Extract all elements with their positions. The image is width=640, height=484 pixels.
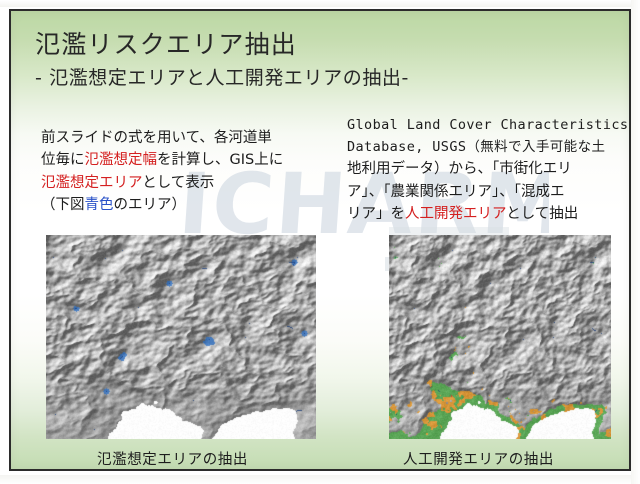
right-line-5-suffix: として抽出 bbox=[506, 206, 578, 222]
right-line-5: リア」を人工開発エリアとして抽出 bbox=[347, 203, 631, 225]
figure-landcover-map bbox=[389, 235, 611, 439]
right-line-2: Database, USGS（無料で入手可能な土 bbox=[347, 136, 631, 158]
left-line-3-suffix: として表示 bbox=[142, 175, 214, 191]
left-text-column: 前スライドの式を用いて、各河道単 位毎に氾濫想定幅を計算し、GIS上に 氾濫想定… bbox=[41, 127, 321, 217]
landcover-map-canvas bbox=[389, 235, 611, 439]
right-line-5-prefix: リア」を bbox=[347, 206, 405, 222]
page-title: 氾濫リスクエリア抽出 bbox=[35, 30, 595, 60]
left-line-4-prefix: （下図 bbox=[41, 197, 85, 213]
highlight-blue-color: 青色 bbox=[85, 197, 114, 213]
scan-right-edge bbox=[631, 0, 640, 484]
left-line-3: 氾濫想定エリアとして表示 bbox=[41, 172, 321, 194]
slide-frame: ICHARM 氾濫リスクエリア抽出 - 氾濫想定エリアと人工開発エリアの抽出- … bbox=[9, 9, 631, 471]
right-line-1: Global Land Cover Characteristics bbox=[347, 115, 631, 136]
scan-top-edge bbox=[0, 0, 640, 7]
left-line-2-suffix: を計算し、GIS上に bbox=[157, 152, 283, 168]
right-text-column: Global Land Cover Characteristics Databa… bbox=[347, 115, 631, 226]
caption-left: 氾濫想定エリアの抽出 bbox=[97, 448, 248, 469]
left-line-1-text: 前スライドの式を用いて、各河道単 bbox=[41, 130, 272, 146]
page-subtitle: - 氾濫想定エリアと人工開発エリアの抽出- bbox=[35, 66, 595, 92]
slide-root: ICHARM 氾濫リスクエリア抽出 - 氾濫想定エリアと人工開発エリアの抽出- … bbox=[0, 0, 640, 484]
left-line-4-suffix: のエリア） bbox=[114, 197, 187, 213]
right-line-2-mono: Database, USGS（無料で入手可能な土 bbox=[347, 139, 605, 155]
highlight-artificial-development-area: 人工開発エリア bbox=[405, 206, 506, 222]
right-line-4: ア」、「農業関係エリア」、「混成エ bbox=[347, 181, 631, 203]
scan-bottom-edge bbox=[0, 475, 640, 484]
left-line-4: （下図青色のエリア） bbox=[41, 194, 321, 216]
highlight-flood-width: 氾濫想定幅 bbox=[85, 152, 158, 168]
left-line-2-prefix: 位毎に bbox=[41, 152, 85, 168]
flood-map-canvas bbox=[46, 235, 316, 439]
right-line-3: 地利用データ）から、「市街化エリ bbox=[347, 158, 631, 180]
caption-right: 人工開発エリアの抽出 bbox=[403, 448, 554, 469]
title-block: 氾濫リスクエリア抽出 - 氾濫想定エリアと人工開発エリアの抽出- bbox=[35, 30, 595, 91]
left-line-2: 位毎に氾濫想定幅を計算し、GIS上に bbox=[41, 149, 321, 171]
left-line-1: 前スライドの式を用いて、各河道単 bbox=[41, 127, 321, 149]
figure-flood-area-map bbox=[46, 235, 316, 439]
highlight-flood-area: 氾濫想定エリア bbox=[41, 175, 142, 191]
